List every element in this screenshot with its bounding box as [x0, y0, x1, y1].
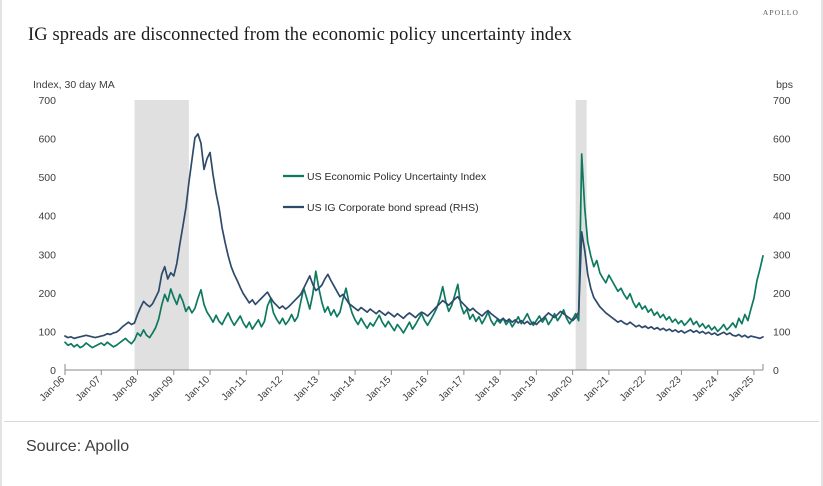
x-axis-tick-label: Jan-23 — [654, 374, 684, 404]
y-axis-tick-label-right: 500 — [773, 172, 791, 184]
x-axis-tick-label: Jan-07 — [74, 374, 104, 404]
chart-area: 0010010020020030030040040050050060060070… — [2, 0, 823, 420]
y-axis-tick-label-right: 0 — [773, 365, 779, 377]
y-axis-tick-label-right: 300 — [773, 249, 791, 261]
y-axis-tick-label-right: 700 — [773, 95, 791, 107]
x-axis-tick-label: Jan-20 — [545, 374, 575, 404]
y-axis-tick-label-left: 500 — [38, 172, 56, 184]
chart-page: APOLLO IG spreads are disconnected from … — [0, 0, 823, 486]
y-axis-tick-label-right: 200 — [773, 288, 791, 300]
x-axis-tick-label: Jan-15 — [364, 374, 394, 404]
line-chart: 0010010020020030030040040050050060060070… — [2, 0, 823, 420]
source-label: Source: Apollo — [26, 438, 129, 456]
x-axis-tick-label: Jan-18 — [473, 374, 503, 404]
x-axis-tick-label: Jan-21 — [582, 374, 612, 404]
y-axis-tick-label-left: 700 — [38, 95, 56, 107]
y-axis-tick-label-right: 400 — [773, 211, 791, 223]
y-axis-tick-label-right: 100 — [773, 326, 791, 338]
x-axis-tick-label: Jan-06 — [38, 374, 68, 404]
y-axis-tick-label-left: 200 — [38, 288, 56, 300]
y-axis-tick-label-left: 300 — [38, 249, 56, 261]
legend-label: US IG Corporate bond spread (RHS) — [307, 202, 479, 214]
x-axis-tick-label: Jan-19 — [509, 374, 539, 404]
x-axis-tick-label: Jan-16 — [400, 374, 430, 404]
x-axis-tick-label: Jan-10 — [183, 374, 213, 404]
footer-divider — [4, 421, 819, 422]
x-axis-tick-label: Jan-13 — [292, 374, 322, 404]
y-axis-tick-label-left: 400 — [38, 211, 56, 223]
y-axis-tick-label-left: 600 — [38, 134, 56, 146]
x-axis-tick-label: Jan-17 — [437, 374, 467, 404]
x-axis-tick-label: Jan-25 — [727, 374, 757, 404]
x-axis-tick-label: Jan-24 — [690, 374, 720, 404]
x-axis-tick-label: Jan-08 — [110, 374, 140, 404]
x-axis-tick-label: Jan-11 — [220, 374, 249, 403]
x-axis-tick-label: Jan-22 — [618, 374, 648, 404]
x-axis-tick-label: Jan-12 — [255, 374, 285, 404]
y-axis-tick-label-left: 0 — [50, 365, 56, 377]
x-axis-tick-label: Jan-09 — [147, 374, 177, 404]
y-axis-tick-label-left: 100 — [38, 326, 56, 338]
x-axis-tick-label: Jan-14 — [328, 374, 358, 404]
legend-label: US Economic Policy Uncertainty Index — [307, 171, 487, 183]
y-axis-tick-label-right: 600 — [773, 134, 791, 146]
